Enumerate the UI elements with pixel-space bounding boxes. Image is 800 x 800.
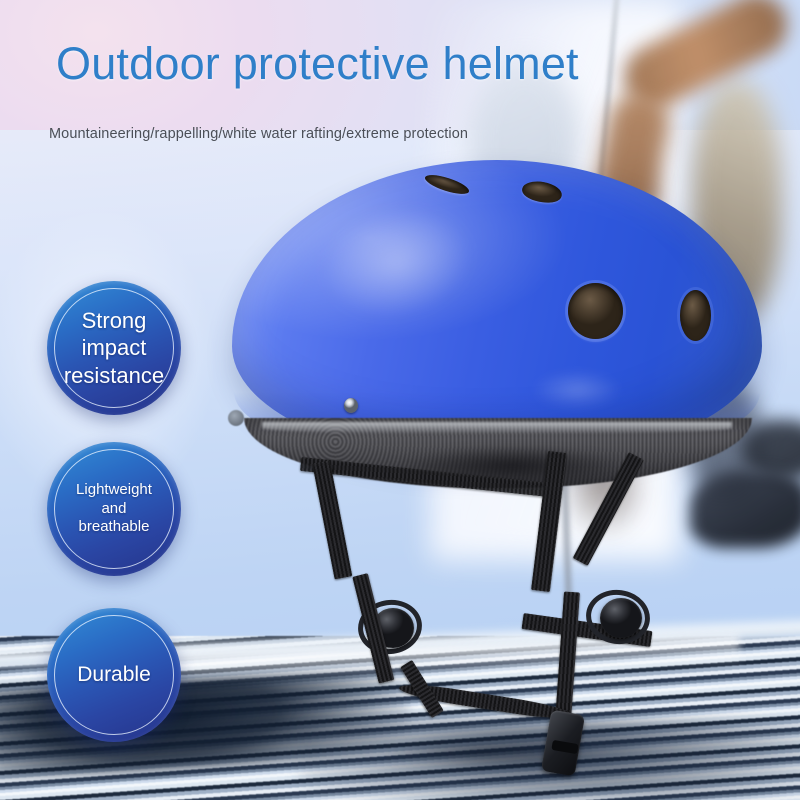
feature-badge-label: Strong impact resistance	[55, 307, 173, 389]
product-banner: Outdoor protective helmet Mountaineering…	[0, 0, 800, 800]
feature-badge-label: Lightweight and breathable	[67, 481, 161, 537]
feature-badge-strong-impact-resistance[interactable]: Strong impact resistance	[47, 281, 181, 415]
vent-round-small-icon	[680, 290, 711, 341]
feature-badge-label: Durable	[68, 662, 160, 688]
vent-round-large-icon	[568, 283, 623, 339]
strap-adjuster-right	[600, 598, 642, 638]
product-helmet	[232, 160, 768, 490]
page-subtitle: Mountaineering/rappelling/white water ra…	[49, 126, 468, 142]
feature-badge-durable[interactable]: Durable	[47, 608, 181, 742]
helmet-rivet	[344, 398, 358, 413]
helmet-side-clip	[228, 410, 244, 426]
feature-badge-lightweight-and-breathable[interactable]: Lightweight and breathable	[47, 442, 181, 576]
page-title: Outdoor protective helmet	[56, 38, 579, 90]
helmet-liner-highlight	[262, 422, 732, 434]
